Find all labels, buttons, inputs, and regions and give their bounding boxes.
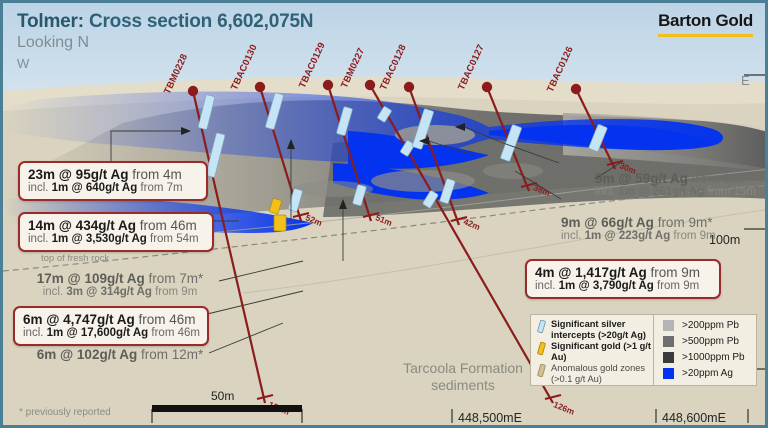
legend-item-anomalous-gold: Anomalous gold zones (>0.1 g/t Au)	[536, 363, 651, 384]
intercept-callout-5: 6m @ 102g/t Ag from 12m*	[27, 347, 213, 362]
intercept-callout-1: 23m @ 95g/t Ag from 4m incl. 1m @ 640g/t…	[18, 161, 208, 201]
page-title-rest: Cross section 6,602,075N	[84, 11, 313, 32]
pb-pod-4	[483, 163, 543, 179]
intercept-line1: 9m @ 66g/t Ag from 9m*	[561, 215, 737, 230]
intercept-line2: incl. 1m @ 17,600g/t Ag from 46m	[23, 327, 199, 339]
intercept-line2: incl. 1m @ 261g/t Ag from 15m	[595, 186, 768, 198]
intercept-line2: incl. 1m @ 3,790g/t Ag from 9m	[535, 280, 711, 292]
legend-swatch-row-pb500: >500ppm Pb	[663, 336, 754, 347]
intercept-callout-4: 6m @ 4,747g/t Ag from 46m incl. 1m @ 17,…	[13, 306, 209, 346]
page-title-bold: Tolmer:	[17, 11, 84, 32]
swatch-pb200	[663, 320, 674, 331]
legend-label-pb200: >200ppm Pb	[682, 320, 739, 331]
scalebar-horizontal-label: 50m	[211, 389, 234, 403]
intercept-line1: 17m @ 109g/t Ag from 7m*	[27, 271, 213, 286]
formation-label: Tarcoola Formation sediments	[388, 360, 538, 394]
legend-label-silver: Significant silver intercepts (>20g/t Ag…	[551, 319, 651, 340]
west-label: W	[17, 56, 29, 71]
silver-intercept-icon	[536, 320, 547, 339]
company-logo: Barton Gold	[658, 11, 753, 37]
intercept-callout-2: 14m @ 434g/t Ag from 46m incl. 1m @ 3,53…	[18, 212, 214, 252]
swatch-ag20	[663, 368, 674, 379]
intercept-callout-3: 17m @ 109g/t Ag from 7m* incl. 3m @ 314g…	[27, 271, 213, 298]
intercept-callout-6: 9m @ 59g/t Ag from 15m* incl. 1m @ 261g/…	[595, 171, 768, 198]
legend-swatch-row-pb1000: >1000ppm Pb	[663, 352, 754, 363]
legend-label-pb1000: >1000ppm Pb	[682, 352, 745, 363]
legend-swatch-row-pb200: >200ppm Pb	[663, 320, 754, 331]
intercept-line1: 6m @ 102g/t Ag from 12m*	[27, 347, 213, 362]
coord-label-left: 448,500mE	[458, 411, 522, 425]
legend-swatch-row-ag20: >20ppm Ag	[663, 368, 754, 379]
intercept-line1: 14m @ 434g/t Ag from 46m	[28, 218, 204, 233]
formation-line1: Tarcoola Formation	[403, 360, 523, 376]
page-title: Tolmer: Cross section 6,602,075N	[17, 11, 313, 33]
legend-label-ag20: >20ppm Ag	[682, 368, 733, 379]
intercept-line1: 23m @ 95g/t Ag from 4m	[28, 167, 198, 182]
top-of-fresh-rock-label: top of fresh rock	[41, 253, 109, 264]
legend-item-gold: Significant gold (>1 g/t Au)	[536, 341, 651, 362]
intercept-line1: 6m @ 4,747g/t Ag from 46m	[23, 312, 199, 327]
cross-section-figure: Tolmer: Cross section 6,602,075N Looking…	[0, 0, 768, 428]
pb-pod-2	[371, 170, 475, 192]
legend-label-gold: Significant gold (>1 g/t Au)	[551, 341, 651, 362]
intercept-line2: incl. 1m @ 3,530g/t Ag from 54m	[28, 233, 204, 245]
gold-intercept-icon	[536, 342, 547, 361]
anomalous-gold-icon	[536, 364, 547, 383]
legend-swatches: >200ppm Pb >500ppm Pb >1000ppm Pb >20ppm…	[654, 315, 756, 385]
east-label: E	[741, 73, 750, 88]
intercept-callout-8: 4m @ 1,417g/t Ag from 9m incl. 1m @ 3,79…	[525, 259, 721, 299]
swatch-pb500	[663, 336, 674, 347]
legend-item-silver: Significant silver intercepts (>20g/t Ag…	[536, 319, 651, 340]
legend-panel: Significant silver intercepts (>20g/t Ag…	[530, 314, 757, 386]
view-direction-label: Looking N	[17, 34, 89, 52]
coord-label-right: 448,600mE	[662, 411, 726, 425]
formation-line2: sediments	[431, 377, 495, 393]
footnote: * previously reported	[19, 407, 111, 418]
intercept-line2: incl. 3m @ 314g/t Ag from 9m	[27, 286, 213, 298]
scalebar-horizontal	[152, 405, 302, 412]
legend-label-anomalous-gold: Anomalous gold zones (>0.1 g/t Au)	[551, 363, 651, 384]
intercept-line1: 4m @ 1,417g/t Ag from 9m	[535, 265, 711, 280]
intercept-line1: 9m @ 59g/t Ag from 15m*	[595, 171, 768, 186]
intercept-line2: incl. 1m @ 640g/t Ag from 7m	[28, 182, 198, 194]
swatch-pb1000	[663, 352, 674, 363]
legend-symbols: Significant silver intercepts (>20g/t Ag…	[531, 315, 654, 385]
scalebar-vertical-100-label: 100m	[709, 233, 740, 247]
legend-label-pb500: >500ppm Pb	[682, 336, 739, 347]
